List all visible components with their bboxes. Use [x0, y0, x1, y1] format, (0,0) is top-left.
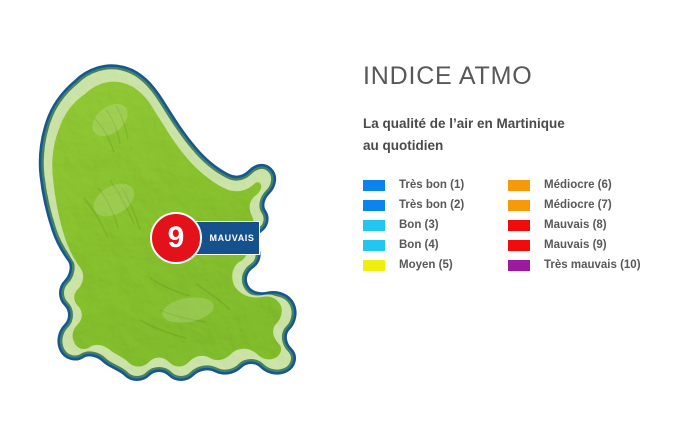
legend-item[interactable]: Bon (4) — [363, 235, 508, 255]
index-badge-value: 9 — [168, 223, 185, 253]
legend-item[interactable]: Mauvais (9) — [508, 235, 693, 255]
page-subtitle-line-1: La qualité de l’air en Martinique — [363, 113, 663, 135]
legend-swatch-icon — [508, 240, 530, 251]
legend-item[interactable]: Bon (3) — [363, 215, 508, 235]
map-panel: MAUVAIS 9 — [0, 0, 345, 428]
info-panel: INDICE ATMO La qualité de l’air en Marti… — [363, 0, 700, 428]
legend-item-label: Très mauvais (10) — [544, 259, 641, 271]
page-title: INDICE ATMO — [363, 62, 532, 91]
legend-swatch-icon — [363, 260, 385, 271]
atmo-index-widget: MAUVAIS 9 INDICE ATMO La qualité de l’ai… — [0, 0, 700, 428]
legend-item-label: Très bon (1) — [399, 179, 464, 191]
legend-item-label: Très bon (2) — [399, 199, 464, 211]
legend-item[interactable]: Moyen (5) — [363, 255, 508, 275]
legend-item[interactable]: Très mauvais (10) — [508, 255, 693, 275]
legend-swatch-icon — [363, 200, 385, 211]
legend-swatch-icon — [508, 200, 530, 211]
legend-swatch-icon — [508, 180, 530, 191]
legend-item-label: Bon (3) — [399, 219, 439, 231]
legend-column-right: Médiocre (6) Médiocre (7) Mauvais (8) Ma… — [508, 175, 693, 275]
legend-item-label: Médiocre (6) — [544, 179, 612, 191]
legend-swatch-icon — [508, 220, 530, 231]
page-subtitle-line-2: au quotidien — [363, 135, 663, 157]
legend-item[interactable]: Médiocre (6) — [508, 175, 693, 195]
legend-item-label: Mauvais (8) — [544, 219, 607, 231]
legend-item[interactable]: Médiocre (7) — [508, 195, 693, 215]
legend-swatch-icon — [363, 220, 385, 231]
index-badge-circle: 9 — [150, 212, 202, 264]
legend-column-left: Très bon (1) Très bon (2) Bon (3) Bon (4… — [363, 175, 508, 275]
legend-item-label: Mauvais (9) — [544, 239, 607, 251]
legend-item-label: Bon (4) — [399, 239, 439, 251]
legend-item-label: Médiocre (7) — [544, 199, 612, 211]
legend-item[interactable]: Très bon (2) — [363, 195, 508, 215]
legend-swatch-icon — [363, 240, 385, 251]
legend-swatch-icon — [508, 260, 530, 271]
legend-item[interactable]: Mauvais (8) — [508, 215, 693, 235]
legend-item[interactable]: Très bon (1) — [363, 175, 508, 195]
legend: Très bon (1) Très bon (2) Bon (3) Bon (4… — [363, 175, 693, 275]
legend-swatch-icon — [363, 180, 385, 191]
page-subtitle: La qualité de l’air en Martinique au quo… — [363, 113, 663, 157]
index-badge-label: MAUVAIS — [193, 233, 254, 243]
legend-item-label: Moyen (5) — [399, 259, 453, 271]
